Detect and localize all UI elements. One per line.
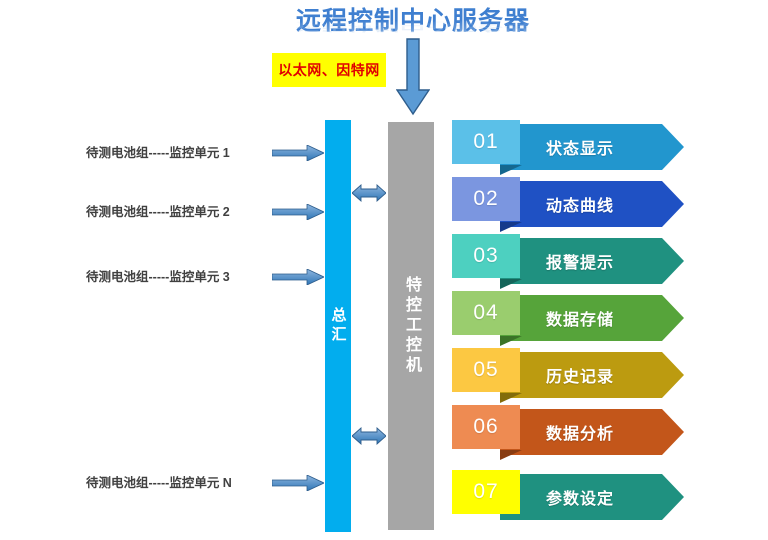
function-row-07[interactable]: 参数设定 07 [452, 470, 684, 520]
chevron-shape-02 [500, 181, 684, 227]
bus-bar: 总汇 [325, 120, 351, 532]
function-number-05: 05 [473, 358, 498, 382]
unit-label-n: 待测电池组-----监控单元 N [86, 474, 272, 492]
chevron-shape-07 [500, 474, 684, 520]
network-type-label: 以太网、因特网 [272, 53, 386, 87]
arrow-right-icon-n [272, 475, 324, 491]
chevron-shape-04 [500, 295, 684, 341]
function-number-04: 04 [473, 301, 498, 325]
arrow-right-icon-2 [272, 204, 324, 220]
unit-label-1: 待测电池组-----监控单元 1 [86, 144, 272, 162]
arrow-right-icon-1 [272, 145, 324, 161]
arrow-left-right-icon-top [352, 183, 386, 203]
function-number-03: 03 [473, 244, 498, 268]
chevron-shape-06 [500, 409, 684, 455]
function-row-05[interactable]: 历史记录 05 [452, 348, 684, 398]
function-number-box-01: 01 [452, 120, 520, 164]
bus-bar-label: 总汇 [325, 120, 351, 532]
arrow-down-icon [396, 38, 430, 116]
chevron-shape-05 [500, 352, 684, 398]
arrow-left-right-icon-bottom [352, 426, 386, 446]
function-row-04[interactable]: 数据存储 04 [452, 291, 684, 341]
function-number-02: 02 [473, 187, 498, 211]
function-number-box-07: 07 [452, 470, 520, 514]
chevron-poly-01 [500, 124, 684, 170]
industrial-pc-bar: 特控工控机 [388, 122, 434, 530]
function-number-box-03: 03 [452, 234, 520, 278]
page-title-reflection: 远程控制中心服务器 [296, 20, 528, 34]
function-number-box-05: 05 [452, 348, 520, 392]
function-row-01[interactable]: 状态显示 01 [452, 120, 684, 170]
function-number-box-06: 06 [452, 405, 520, 449]
function-number-box-02: 02 [452, 177, 520, 221]
network-type-text: 以太网、因特网 [278, 60, 380, 80]
function-number-box-04: 04 [452, 291, 520, 335]
unit-label-2: 待测电池组-----监控单元 2 [86, 203, 272, 221]
function-number-06: 06 [473, 415, 498, 439]
function-row-06[interactable]: 数据分析 06 [452, 405, 684, 455]
function-row-03[interactable]: 报警提示 03 [452, 234, 684, 284]
chevron-shape-01 [500, 124, 684, 170]
chevron-shape-03 [500, 238, 684, 284]
function-row-02[interactable]: 动态曲线 02 [452, 177, 684, 227]
arrow-right-icon-3 [272, 269, 324, 285]
function-number-01: 01 [473, 130, 498, 154]
industrial-pc-label: 特控工控机 [388, 122, 434, 530]
diagram-canvas: 远程控制中心服务器 远程控制中心服务器 以太网、因特网 待测电池组-----监控… [0, 0, 768, 540]
unit-label-3: 待测电池组-----监控单元 3 [86, 268, 272, 286]
function-number-07: 07 [473, 480, 498, 504]
